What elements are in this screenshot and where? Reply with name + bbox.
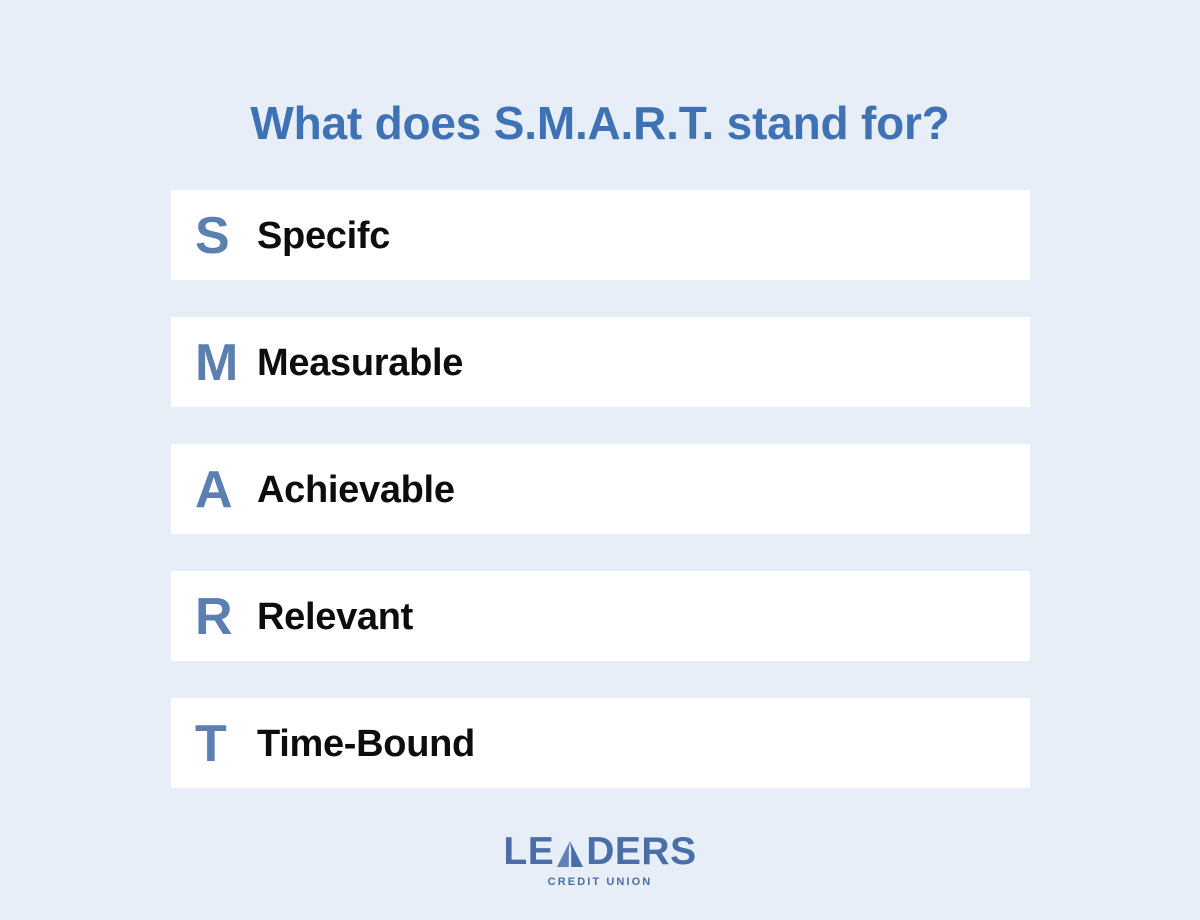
- page-title: What does S.M.A.R.T. stand for?: [0, 96, 1200, 150]
- row-label: Time-Bound: [257, 725, 475, 763]
- smart-row-list: S Specifc M Measurable A Achievable R Re…: [171, 190, 1030, 788]
- list-item: S Specifc: [171, 190, 1030, 280]
- list-item: R Relevant: [171, 571, 1030, 661]
- row-letter: M: [195, 337, 257, 389]
- list-item: A Achievable: [171, 444, 1030, 534]
- row-letter: S: [195, 210, 257, 262]
- logo-word-part2: DERS: [586, 832, 696, 871]
- smart-infographic: What does S.M.A.R.T. stand for? S Specif…: [0, 0, 1200, 920]
- list-item: M Measurable: [171, 317, 1030, 407]
- arrowhead-icon: [555, 839, 585, 869]
- row-letter: R: [195, 591, 257, 643]
- leaders-credit-union-logo: LE DERS: [503, 832, 696, 871]
- row-letter: A: [195, 464, 257, 516]
- list-item: T Time-Bound: [171, 698, 1030, 788]
- logo-word-part1: LE: [503, 832, 554, 871]
- logo-subtitle: CREDIT UNION: [548, 876, 653, 888]
- row-label: Achievable: [257, 471, 455, 509]
- row-label: Specifc: [257, 217, 390, 255]
- row-label: Measurable: [257, 344, 463, 382]
- row-letter: T: [195, 718, 257, 770]
- row-label: Relevant: [257, 598, 413, 636]
- footer: LE DERS CREDIT UNION: [0, 832, 1200, 888]
